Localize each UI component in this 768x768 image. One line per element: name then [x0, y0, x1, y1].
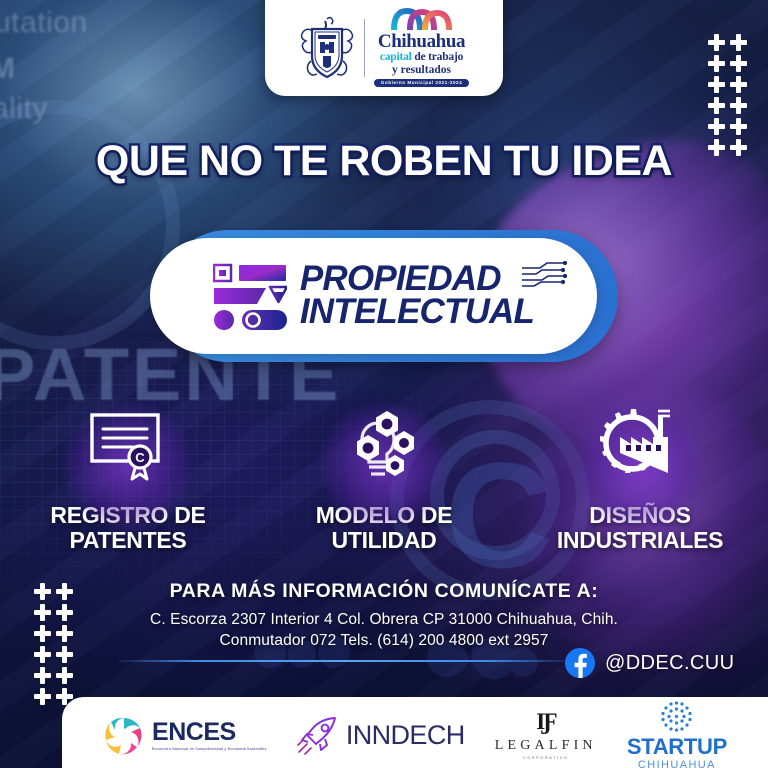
intellectual-property-mark-icon: [213, 262, 287, 330]
plus-icon: [730, 76, 747, 93]
service-item-utilidad: MODELO DE UTILIDAD: [256, 405, 512, 552]
service-item-patentes: C REGISTRO DE PATENTES: [0, 405, 256, 552]
plus-icon: [730, 55, 747, 72]
plus-icon: [730, 34, 747, 51]
partner-tagline: Encuentro Nacional de Competitividad y E…: [152, 748, 267, 751]
plus-icon: [56, 667, 73, 684]
logo-divider: [364, 19, 365, 77]
partner-logo-startup-chihuahua: STARTUP CHIHUAHUA: [627, 700, 727, 768]
plus-icon: [708, 76, 725, 93]
plus-icon: [708, 55, 725, 72]
background-blur-text-1: utation: [0, 6, 88, 40]
brand-line2: capital de trabajo: [380, 52, 463, 64]
social-link-facebook[interactable]: @DDEC.CUU: [565, 648, 734, 678]
partner-tagline: CORPORATIVO: [523, 757, 568, 761]
services-list: C REGISTRO DE PATENTES: [0, 405, 768, 552]
social-handle[interactable]: @DDEC.CUU: [605, 652, 734, 675]
ences-pinwheel-icon: [103, 715, 145, 757]
brand-line2-accent: capital: [380, 51, 412, 63]
facebook-icon[interactable]: [565, 648, 595, 678]
chihuahua-arcs-icon: [391, 8, 453, 30]
banner-white-panel: PROPIEDAD INTELECTUAL: [150, 238, 597, 354]
background-blur-text-3: ality: [0, 92, 48, 126]
poster-root: C utation M ality PATENTE: [0, 0, 768, 768]
svg-text:C: C: [135, 450, 145, 465]
partner-logo-legalfin: IƑ LEGALFIN CORPORATIVO: [495, 710, 597, 761]
banner-line-2: INTELECTUAL: [300, 296, 534, 329]
lightbulb-nuts-icon: [342, 405, 426, 489]
plus-icon: [730, 118, 747, 135]
partner-logos-bar: ENCES Encuentro Nacional de Competitivid…: [62, 697, 768, 768]
plus-icon: [708, 34, 725, 51]
background-blur-text-2: M: [0, 52, 16, 86]
chihuahua-coat-of-arms-icon: [299, 15, 355, 81]
partner-name: INNDECH: [346, 720, 465, 751]
partner-name: STARTUP: [627, 736, 727, 758]
page-title: QUE NO TE ROBEN TU IDEA: [0, 137, 768, 186]
factory-gear-icon: [598, 405, 682, 489]
certificate-seal-icon: C: [86, 405, 170, 489]
contact-title: PARA MÁS INFORMACIÓN COMUNÍCATE A:: [0, 580, 768, 603]
plus-icon: [730, 97, 747, 114]
brand-line3: y resultados: [392, 65, 451, 77]
brand-name: Chihuahua: [378, 32, 465, 51]
circuit-traces-icon: [522, 261, 568, 291]
partner-logo-ences: ENCES Encuentro Nacional de Competitivid…: [103, 715, 267, 757]
propiedad-intelectual-banner: PROPIEDAD INTELECTUAL: [150, 230, 618, 362]
partner-name: ENCES: [152, 720, 267, 745]
partner-name: LEGALFIN: [495, 739, 597, 753]
startup-dots-icon: [660, 700, 693, 733]
government-badge: Gobierno Municipal 2021-2024: [374, 79, 470, 87]
inndech-rocket-icon: [297, 716, 339, 756]
service-item-industriales: DISEÑOS INDUSTRIALES: [512, 405, 768, 552]
legalfin-monogram-icon: IƑ: [536, 710, 555, 733]
plus-icon: [708, 118, 725, 135]
plus-icon: [34, 667, 51, 684]
government-logo-card: Chihuahua capital de trabajo y resultado…: [265, 0, 503, 96]
partner-logo-inndech: INNDECH: [297, 716, 465, 756]
contact-address: C. Escorza 2307 Interior 4 Col. Obrera C…: [0, 611, 768, 629]
contact-block: PARA MÁS INFORMACIÓN COMUNÍCATE A: C. Es…: [0, 580, 768, 650]
plus-icon: [708, 97, 725, 114]
plus-icon: [34, 688, 51, 705]
brand-line2-rest: de trabajo: [412, 51, 463, 63]
partner-subtitle: CHIHUAHUA: [638, 760, 716, 768]
contact-divider: [118, 660, 568, 662]
